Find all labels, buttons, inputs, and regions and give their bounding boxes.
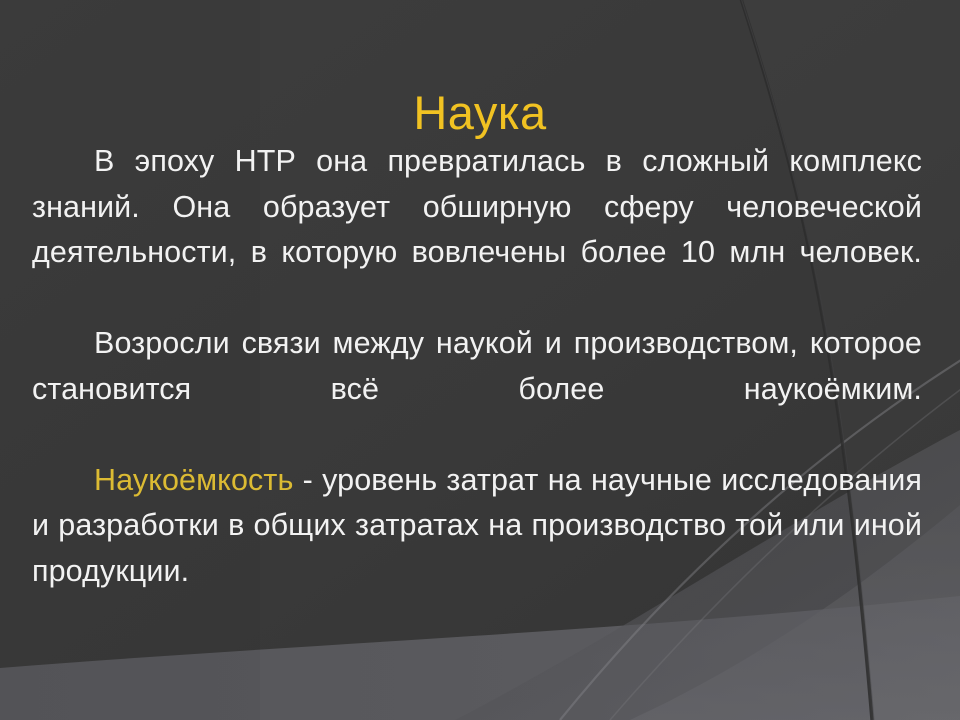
- paragraph-2: Возросли связи между наукой и производст…: [32, 321, 922, 458]
- slide-title: Наука: [0, 87, 960, 139]
- paragraph-1: В эпоху НТР она превратилась в сложный к…: [32, 139, 922, 321]
- slide-body: В эпоху НТР она превратилась в сложный к…: [32, 139, 922, 640]
- highlighted-term: Наукоёмкость: [94, 463, 293, 497]
- presentation-slide: Наука В эпоху НТР она превратилась в сло…: [0, 0, 960, 720]
- slide-content: Наука В эпоху НТР она превратилась в сло…: [0, 0, 960, 720]
- paragraph-1-text: В эпоху НТР она превратилась в сложный к…: [32, 144, 922, 269]
- paragraph-3: Наукоёмкость - уровень затрат на научные…: [32, 458, 922, 640]
- paragraph-2-text: Возросли связи между наукой и производст…: [32, 326, 922, 406]
